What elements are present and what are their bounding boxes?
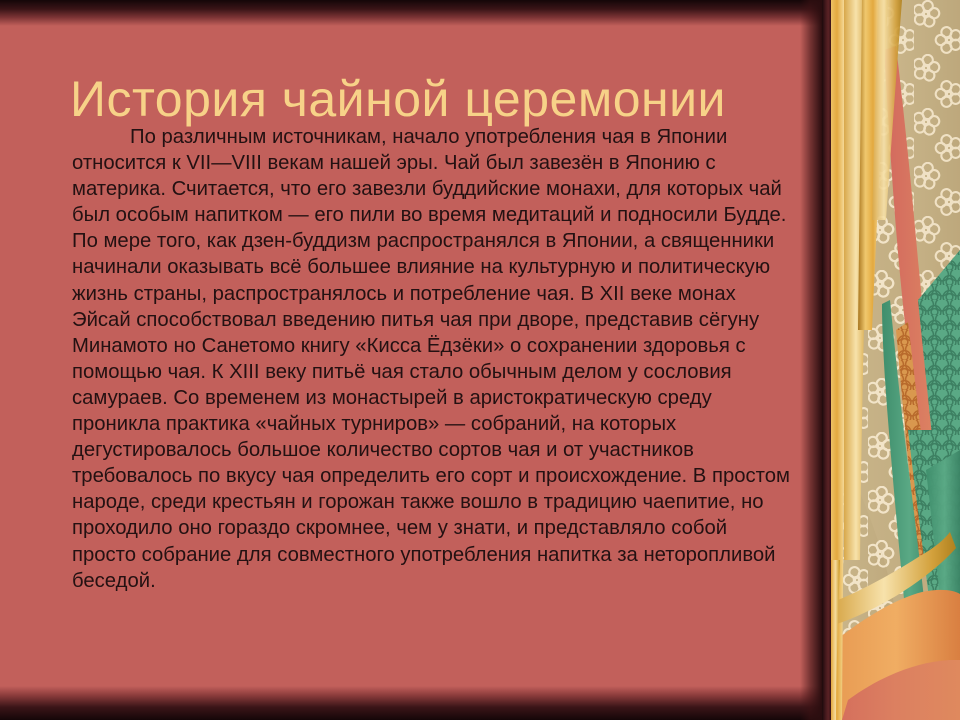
right-shadow-gradient (800, 0, 822, 720)
panel-seam-shadow (822, 0, 831, 720)
slide-title: История чайной церемонии (70, 70, 810, 128)
top-shadow-band (0, 0, 822, 26)
slide-body-text: По различным источникам, начало употребл… (72, 124, 794, 594)
presentation-slide: История чайной церемонии По различным ис… (0, 0, 960, 720)
kimono-border-artwork (822, 0, 960, 720)
bottom-shadow-band (0, 686, 822, 720)
kimono-border-panel (822, 0, 960, 720)
slide-content-area: История чайной церемонии По различным ис… (0, 0, 822, 720)
